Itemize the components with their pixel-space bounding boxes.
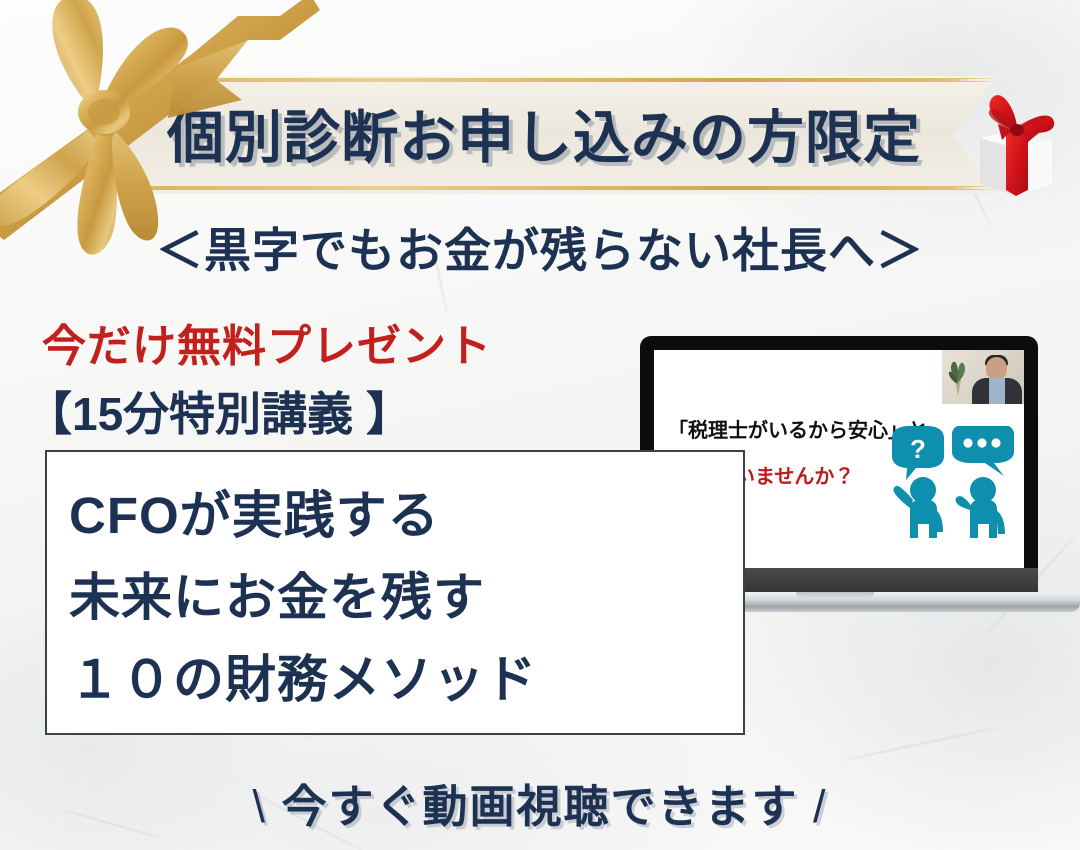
offer-line-2: 未来にお金を残す [47,556,747,630]
person-left-icon [893,477,943,538]
free-gift-label: 今だけ無料プレゼント [42,310,492,374]
svg-text:?: ? [910,434,926,464]
cta-slash-right: / [813,781,828,832]
presenter-head [986,357,1007,380]
presenter-video-thumbnail [942,350,1024,404]
dots-speech-bubble-icon [952,426,1014,476]
laptop-base-notch [796,592,874,599]
cta-slash-left: \ [252,781,267,832]
marble-vein [840,727,997,762]
question-speech-bubble-icon: ? [892,426,944,480]
two-people-talking-icon: ? [882,426,1018,544]
cta-label: 今すぐ動画視聴できます [281,781,798,832]
plant-icon [947,358,969,396]
offer-line-3: １０の財務メソッド [47,638,747,712]
presenter-shirt [989,378,1005,404]
person-right-icon [956,477,1005,538]
subtitle: ＜黒字でもお金が残らない社長へ＞ [0,212,1080,281]
gift-box-icon [958,86,1062,198]
offer-line-1: CFOが実践する [47,474,747,548]
lecture-label: 【15分特別講義 】 [26,378,412,444]
promo-graphic-canvas: 個別診断お申し込みの方限定 [0,0,1080,850]
offer-box: CFOが実践する 未来にお金を残す １０の財務メソッド [45,450,745,735]
cta-text: \ 今すぐ動画視聴できます / [0,770,1080,835]
